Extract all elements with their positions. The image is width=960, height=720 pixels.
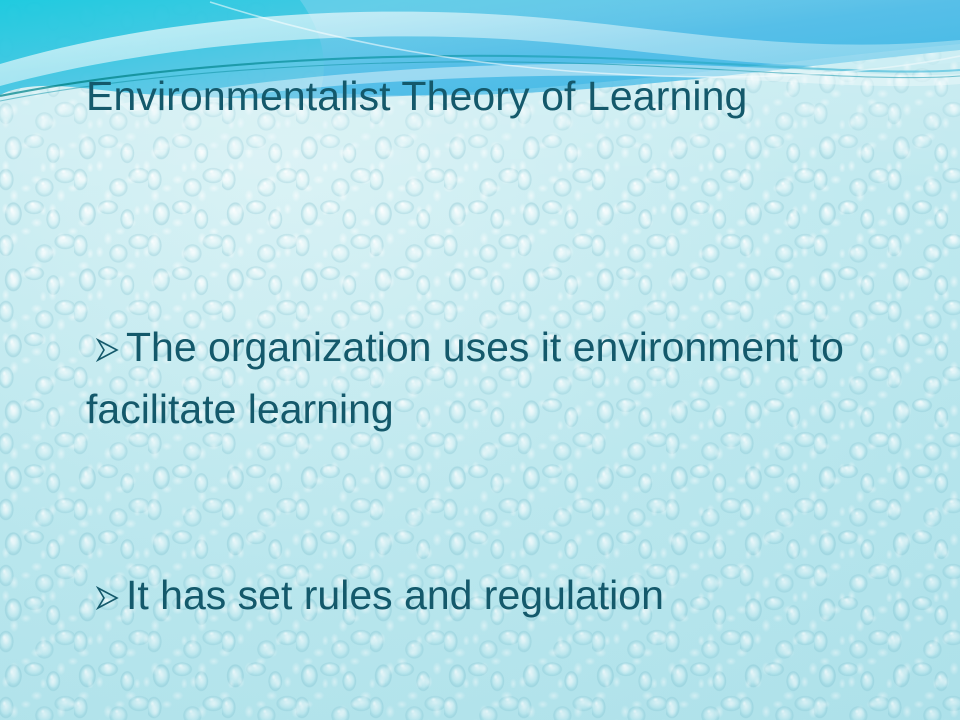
slide-title: Environmentalist Theory of Learning <box>86 68 786 125</box>
arrowhead-bullet-icon <box>96 502 126 626</box>
slide-content: Environmentalist Theory of Learning The … <box>0 0 960 720</box>
list-item: Members respond to those regulations and… <box>86 626 906 720</box>
arrowhead-bullet-icon <box>96 688 126 720</box>
presentation-slide: Environmentalist Theory of Learning The … <box>0 0 960 720</box>
list-item-text: It has set rules and regulation <box>126 572 664 618</box>
arrowhead-bullet-icon <box>96 254 126 378</box>
list-item: It has set rules and regulation <box>86 440 906 626</box>
bullet-list: The organization uses it environment to … <box>86 192 906 720</box>
list-item-text: The organization uses it environment to … <box>86 324 844 432</box>
list-item: The organization uses it environment to … <box>86 192 906 440</box>
